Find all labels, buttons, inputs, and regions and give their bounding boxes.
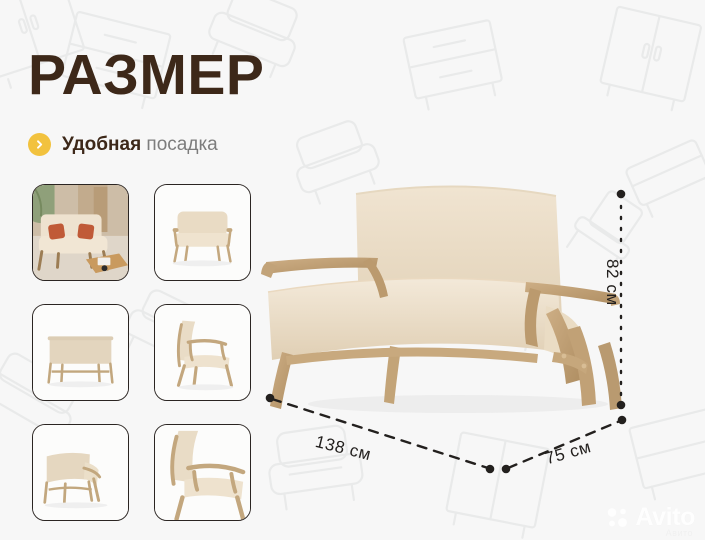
width-dot-right: [486, 465, 495, 474]
page-title: РАЗМЕР: [28, 47, 264, 104]
subtitle-row: Удобная посадка: [28, 133, 218, 156]
depth-dimension-line: [508, 421, 620, 468]
avito-logo-icon: [606, 506, 630, 530]
thumbnail-three-quarter-back-view[interactable]: [32, 424, 129, 521]
subtitle-text: Удобная посадка: [62, 135, 218, 154]
thumbnail-grid: [32, 184, 251, 521]
thumbnail-side-view[interactable]: [154, 304, 251, 401]
subtitle-strong: Удобная: [62, 134, 141, 155]
dresser-outline-icon: [391, 8, 518, 124]
hero-sofa-image: [258, 166, 653, 426]
wardrobe-outline-icon: [431, 420, 565, 540]
size-infographic-card: РАЗМЕР Удобная посадка: [0, 0, 705, 540]
chevron-right-icon: [28, 133, 51, 156]
thumbnail-front-view[interactable]: [154, 184, 251, 281]
thumbnail-back-view[interactable]: [32, 304, 129, 401]
avito-watermark: Avito: [606, 505, 695, 530]
subtitle-rest: посадка: [141, 134, 218, 155]
width-dimension-label: 138 см: [313, 432, 373, 465]
wardrobe-outline-icon: [585, 0, 705, 121]
thumbnail-sofa-in-room[interactable]: [32, 184, 129, 281]
avito-wordmark: Avito: [635, 505, 695, 530]
depth-dimension-label: 75 см: [543, 437, 594, 469]
depth-dot-left: [502, 465, 511, 474]
thumbnail-armrest-closeup[interactable]: [154, 424, 251, 521]
